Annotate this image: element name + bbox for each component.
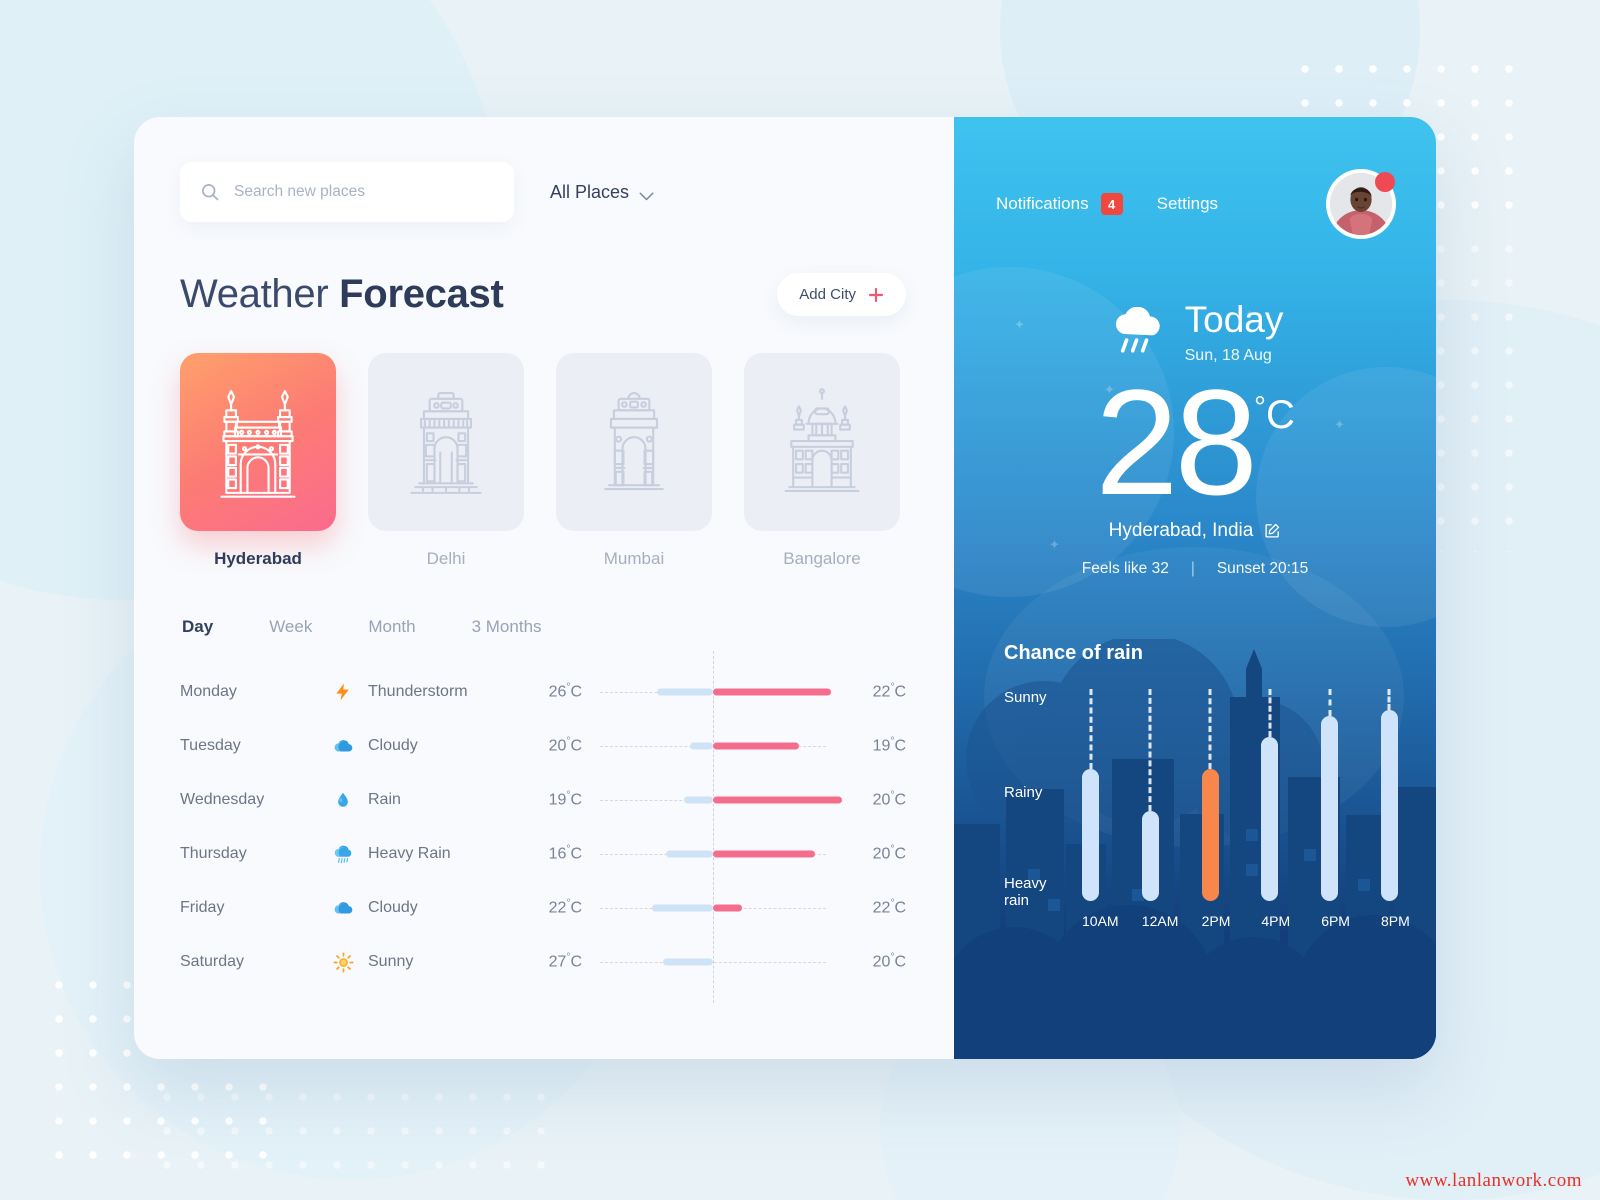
plus-icon [868, 287, 884, 303]
cloud-icon [332, 897, 354, 919]
chart-bar-dash [1328, 689, 1331, 717]
chart-x-label: 2PM [1202, 913, 1219, 929]
city-list: Hyderabad [180, 353, 906, 569]
forecast-temp-low: 19°C [522, 790, 582, 809]
chart-bar[interactable] [1202, 769, 1219, 900]
chart-x-label: 6PM [1321, 913, 1338, 929]
status-dot [1375, 172, 1395, 192]
forecast-condition-label: Sunny [368, 953, 413, 971]
forecast-row: SaturdaySunny27°C20°C [180, 935, 906, 989]
droplet-icon [332, 789, 354, 811]
lightning-icon [332, 681, 354, 703]
chart-bar-dash [1268, 689, 1271, 738]
tab-month[interactable]: Month [368, 617, 415, 637]
range-bar-low [666, 851, 713, 858]
sunset-time: Sunset 20:15 [1217, 560, 1308, 578]
gateway-of-india-icon [586, 379, 682, 505]
forecast-row: WednesdayRain19°C20°C [180, 773, 906, 827]
forecast-condition: Thunderstorm [332, 681, 522, 703]
city-name: Bangalore [744, 549, 900, 569]
chart-bar-column[interactable] [1261, 689, 1278, 901]
forecast-temp-low: 22°C [522, 898, 582, 917]
forecast-temp-low: 26°C [522, 682, 582, 701]
chart-bar-column[interactable] [1142, 689, 1159, 901]
forecast-condition-label: Heavy Rain [368, 845, 451, 863]
forecast-condition: Heavy Rain [332, 843, 522, 865]
forecast-temp-high: 20°C [844, 952, 906, 971]
chart-y-label: Heavyrain [1004, 875, 1047, 910]
range-bar-low [690, 743, 713, 750]
chart-y-label: Rainy [1004, 784, 1042, 801]
forecast-condition: Cloudy [332, 897, 522, 919]
edit-icon[interactable] [1264, 522, 1281, 539]
chart-bar-dash [1089, 689, 1092, 770]
forecast-condition: Rain [332, 789, 522, 811]
places-filter-label: All Places [550, 182, 629, 203]
forecast-day: Saturday [180, 953, 332, 971]
vidhana-soudha-icon [774, 379, 870, 505]
right-panel: ✦ ✦ ✦ ✦ ✦ [954, 117, 1436, 1059]
forecast-temp-low: 16°C [522, 844, 582, 863]
tab-day[interactable]: Day [182, 617, 213, 637]
chart-bar-column[interactable] [1321, 689, 1338, 901]
range-bar-high [713, 743, 799, 750]
location-label: Hyderabad, India [1109, 520, 1254, 542]
dot-pattern [150, 1080, 570, 1190]
range-tabs: Day Week Month 3 Months [180, 617, 906, 637]
chart-y-label: Sunny [1004, 689, 1047, 706]
range-bar-high [713, 905, 742, 912]
title-row: Weather Forecast Add City [180, 272, 906, 317]
places-filter-dropdown[interactable]: All Places [550, 182, 654, 203]
location-row: Hyderabad, India [954, 520, 1436, 542]
avatar-wrapper[interactable] [1326, 169, 1396, 239]
forecast-list: MondayThunderstorm26°C22°CTuesdayCloudy2… [180, 665, 906, 989]
forecast-temp-range [600, 935, 826, 989]
chart-x-label: 12AM [1142, 913, 1159, 929]
temperature-unit: ° C [1254, 393, 1295, 435]
chart-bar-dash [1388, 689, 1391, 710]
page-title-light: Weather [180, 272, 339, 316]
page-title-bold: Forecast [339, 272, 503, 316]
chart-bar[interactable] [1321, 716, 1338, 900]
chart-bar[interactable] [1261, 737, 1278, 900]
forecast-condition-label: Rain [368, 791, 401, 809]
forecast-temp-high: 20°C [844, 844, 906, 863]
chart-bar-column[interactable] [1082, 689, 1099, 901]
notifications-label: Notifications [996, 194, 1089, 214]
forecast-row: FridayCloudy22°C22°C [180, 881, 906, 935]
chart-bar-dash [1209, 689, 1212, 770]
forecast-temp-low: 20°C [522, 736, 582, 755]
chart-x-label: 10AM [1082, 913, 1099, 929]
sun-icon [332, 951, 354, 973]
search-icon [200, 182, 220, 202]
city-item-mumbai[interactable]: Mumbai [556, 353, 712, 569]
range-bar-high [713, 689, 831, 696]
forecast-day: Tuesday [180, 737, 332, 755]
chart-x-label: 8PM [1381, 913, 1398, 929]
charminar-icon [210, 379, 306, 505]
chart-bar[interactable] [1381, 710, 1398, 901]
current-temperature: 28 ° C [1095, 371, 1295, 514]
forecast-temp-high: 20°C [844, 790, 906, 809]
chart-x-axis-labels: 10AM12AM2PM4PM6PM8PM [1082, 913, 1398, 929]
range-bar-high [713, 851, 815, 858]
chart-bar[interactable] [1142, 811, 1159, 900]
forecast-condition: Cloudy [332, 735, 522, 757]
right-toolbar: Notifications 4 Settings [954, 117, 1436, 239]
today-header: Today Sun, 18 Aug [954, 301, 1436, 365]
search-box[interactable] [180, 162, 514, 222]
forecast-row: ThursdayHeavy Rain16°C20°C [180, 827, 906, 881]
india-gate-icon [398, 379, 494, 505]
chart-plot-area [1082, 689, 1398, 901]
forecast-temp-high: 22°C [844, 898, 906, 917]
heavy-rain-icon [332, 843, 354, 865]
feels-like: Feels like 32 [1082, 560, 1169, 578]
city-name: Delhi [368, 549, 524, 569]
range-bar-low [684, 797, 713, 804]
chance-of-rain-chart: Chance of rain SunnyRainyHeavyrain 10AM1… [954, 642, 1436, 929]
city-item-hyderabad[interactable]: Hyderabad [180, 353, 336, 569]
search-input[interactable] [234, 183, 494, 201]
forecast-day: Friday [180, 899, 332, 917]
watermark: www.lanlanwork.com [1405, 1170, 1582, 1192]
temperature-value: 28 [1095, 371, 1254, 514]
degree-symbol: ° [1254, 393, 1266, 423]
forecast-temp-high: 22°C [844, 682, 906, 701]
forecast-day: Thursday [180, 845, 332, 863]
city-card[interactable] [744, 353, 900, 531]
chart-bar-column[interactable] [1381, 689, 1398, 901]
notifications-badge: 4 [1101, 193, 1123, 215]
range-bar-low [652, 905, 713, 912]
add-city-button[interactable]: Add City [777, 273, 906, 316]
settings-link[interactable]: Settings [1157, 194, 1218, 214]
forecast-temp-high: 19°C [844, 736, 906, 755]
today-text: Today Sun, 18 Aug [1185, 301, 1284, 365]
today-title: Today [1185, 301, 1284, 338]
add-city-label: Add City [799, 286, 856, 303]
city-item-bangalore[interactable]: Bangalore [744, 353, 900, 569]
forecast-temp-low: 27°C [522, 952, 582, 971]
city-name: Mumbai [556, 549, 712, 569]
forecast-condition-label: Cloudy [368, 737, 418, 755]
city-card[interactable] [368, 353, 524, 531]
range-bar-low [663, 959, 713, 966]
rain-cloud-icon [1107, 307, 1167, 359]
city-card[interactable] [556, 353, 712, 531]
range-bar-low [657, 689, 714, 696]
forecast-condition-label: Cloudy [368, 899, 418, 917]
chart-bar-dash [1149, 689, 1152, 812]
unit-letter: C [1266, 395, 1295, 435]
city-item-delhi[interactable]: Delhi [368, 353, 524, 569]
weather-meta: Feels like 32 | Sunset 20:15 [954, 560, 1436, 578]
chart-bar-column[interactable] [1202, 689, 1219, 901]
meta-separator: | [1191, 560, 1195, 578]
cloud-icon [332, 735, 354, 757]
page-title: Weather Forecast [180, 272, 504, 317]
forecast-row: MondayThunderstorm26°C22°C [180, 665, 906, 719]
tab-3-months[interactable]: 3 Months [472, 617, 542, 637]
forecast-condition-label: Thunderstorm [368, 683, 468, 701]
forecast-condition: Sunny [332, 951, 522, 973]
today-summary: Today Sun, 18 Aug 28 ° C Hyderabad, Indi… [954, 301, 1436, 578]
left-panel: All Places Weather Forecast Add City [134, 117, 954, 1059]
chart-body: SunnyRainyHeavyrain [1004, 689, 1398, 901]
weather-app-card: All Places Weather Forecast Add City [134, 117, 1436, 1059]
chart-x-label: 4PM [1261, 913, 1278, 929]
range-bar-high [713, 797, 842, 804]
city-card[interactable] [180, 353, 336, 531]
chart-bar[interactable] [1082, 769, 1099, 900]
toolbar: All Places [180, 162, 906, 222]
forecast-day: Wednesday [180, 791, 332, 809]
tab-week[interactable]: Week [269, 617, 312, 637]
chevron-down-icon [639, 188, 654, 197]
chart-y-axis-labels: SunnyRainyHeavyrain [1004, 689, 1078, 901]
notifications-link[interactable]: Notifications 4 [996, 193, 1123, 215]
forecast-day: Monday [180, 683, 332, 701]
chart-title: Chance of rain [1004, 642, 1398, 665]
forecast-row: TuesdayCloudy20°C19°C [180, 719, 906, 773]
range-center-line [713, 921, 714, 1003]
city-name: Hyderabad [180, 549, 336, 569]
